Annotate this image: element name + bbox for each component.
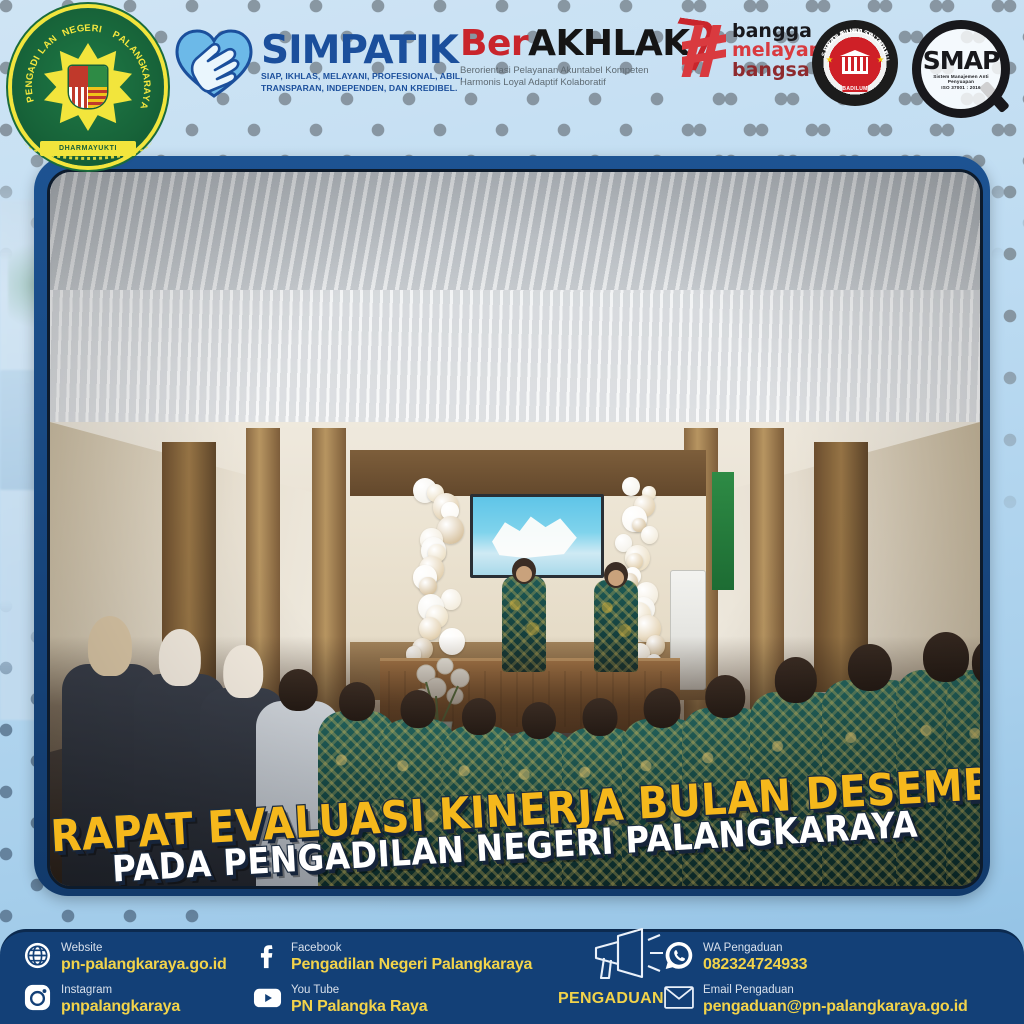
footer-contact-bar: Website pn-palangkaraya.go.id Instagram … [0, 900, 1024, 1024]
footer-instagram-value: pnpalangkaraya [61, 998, 180, 1015]
smap-sub2: ISO 37001 : 2016 [941, 85, 980, 90]
simpatik-logo: SIMPATIK SIAP, IKHLAS, MELAYANI, PROFESI… [175, 28, 463, 98]
footer-instagram-label: Instagram [61, 984, 112, 996]
footer-facebook-label: Facebook [291, 942, 342, 954]
bangga-melayani-bangsa-logo: bangga melayani bangsa [682, 22, 829, 80]
event-photo: RAPAT EVALUASI KINERJA BULAN DESEMBER 20… [47, 169, 983, 889]
smap-logo: SMAP Sistem Manajemen Anti Penyuapan ISO… [908, 14, 1012, 118]
facebook-icon [252, 941, 282, 971]
pengaduan-label: PENGADUAN [558, 990, 664, 1008]
footer-instagram[interactable]: Instagram pnpalangkaraya [22, 980, 180, 1016]
court-seal-logo: PENGADILAN NEGERI PALANGKARAYA DHARMAYUK… [12, 8, 164, 166]
berakhlak-logo: BerAKHLAK Berorientasi Pelayanan Akuntab… [460, 26, 690, 90]
poster-canvas: PENGADILAN NEGERI PALANGKARAYA DHARMAYUK… [0, 0, 1024, 1024]
footer-youtube-value: PN Palangka Raya [291, 998, 427, 1015]
footer-whatsapp-label: WA Pengaduan [703, 942, 783, 954]
simpatik-tagline-line1: SIAP, IKHLAS, MELAYANI, PROFESIONAL, ABI… [261, 71, 463, 83]
footer-whatsapp-value: 082324724933 [703, 956, 807, 973]
berakhlak-title-prefix: Ber [460, 23, 528, 64]
berakhlak-tagline-line1: Berorientasi Pelayanan Akuntabel Kompete… [460, 65, 690, 77]
footer-website[interactable]: Website pn-palangkaraya.go.id [22, 938, 227, 974]
footer-email-label: Email Pengaduan [703, 984, 794, 996]
photo-scene [50, 172, 980, 886]
hashtag-icon [682, 25, 726, 77]
youtube-icon [252, 983, 282, 1013]
whatsapp-icon [664, 941, 694, 971]
mutu-center-label: BADILUM [842, 86, 867, 92]
envelope-icon [664, 983, 694, 1013]
heart-hand-icon [175, 28, 253, 98]
footer-whatsapp[interactable]: WA Pengaduan 082324724933 [664, 938, 807, 974]
sertifikasi-mutu-seal: SERTIFIKASI MUTU PENGADILAN UNGGUL DAN T… [812, 20, 898, 106]
seal-banner-text: DHARMAYUKTI [40, 141, 136, 156]
globe-icon [22, 941, 52, 971]
photo-frame: RAPAT EVALUASI KINERJA BULAN DESEMBER 20… [34, 156, 990, 896]
photo-vignette [50, 172, 980, 886]
footer-email[interactable]: Email Pengaduan pengaduan@pn-palangkaray… [664, 980, 968, 1016]
smap-title: SMAP [923, 48, 1000, 73]
berakhlak-tagline-line2: Harmonis Loyal Adaptif Kolaboratif [460, 77, 690, 89]
instagram-icon [22, 983, 52, 1013]
footer-website-label: Website [61, 942, 102, 954]
megaphone-icon [588, 926, 666, 980]
footer-facebook-value: Pengadilan Negeri Palangkaraya [291, 956, 532, 973]
header-logo-strip: PENGADILAN NEGERI PALANGKARAYA DHARMAYUK… [0, 0, 1024, 150]
smap-sub1: Sistem Manajemen Anti Penyuapan [921, 74, 1001, 84]
footer-email-value: pengaduan@pn-palangkaraya.go.id [703, 998, 968, 1015]
footer-website-value: pn-palangkaraya.go.id [61, 956, 227, 973]
temple-icon [840, 50, 870, 76]
simpatik-title: SIMPATIK [261, 32, 463, 69]
simpatik-tagline-line2: TRANSPARAN, INDEPENDEN, DAN KREDIBEL. [261, 83, 463, 95]
footer-facebook[interactable]: Facebook Pengadilan Negeri Palangkaraya [252, 938, 532, 974]
footer-youtube-label: You Tube [291, 984, 339, 996]
seal-shield-icon [69, 66, 107, 108]
footer-youtube[interactable]: You Tube PN Palangka Raya [252, 980, 427, 1016]
magnifier-lens-icon: SMAP Sistem Manajemen Anti Penyuapan ISO… [912, 20, 1010, 118]
